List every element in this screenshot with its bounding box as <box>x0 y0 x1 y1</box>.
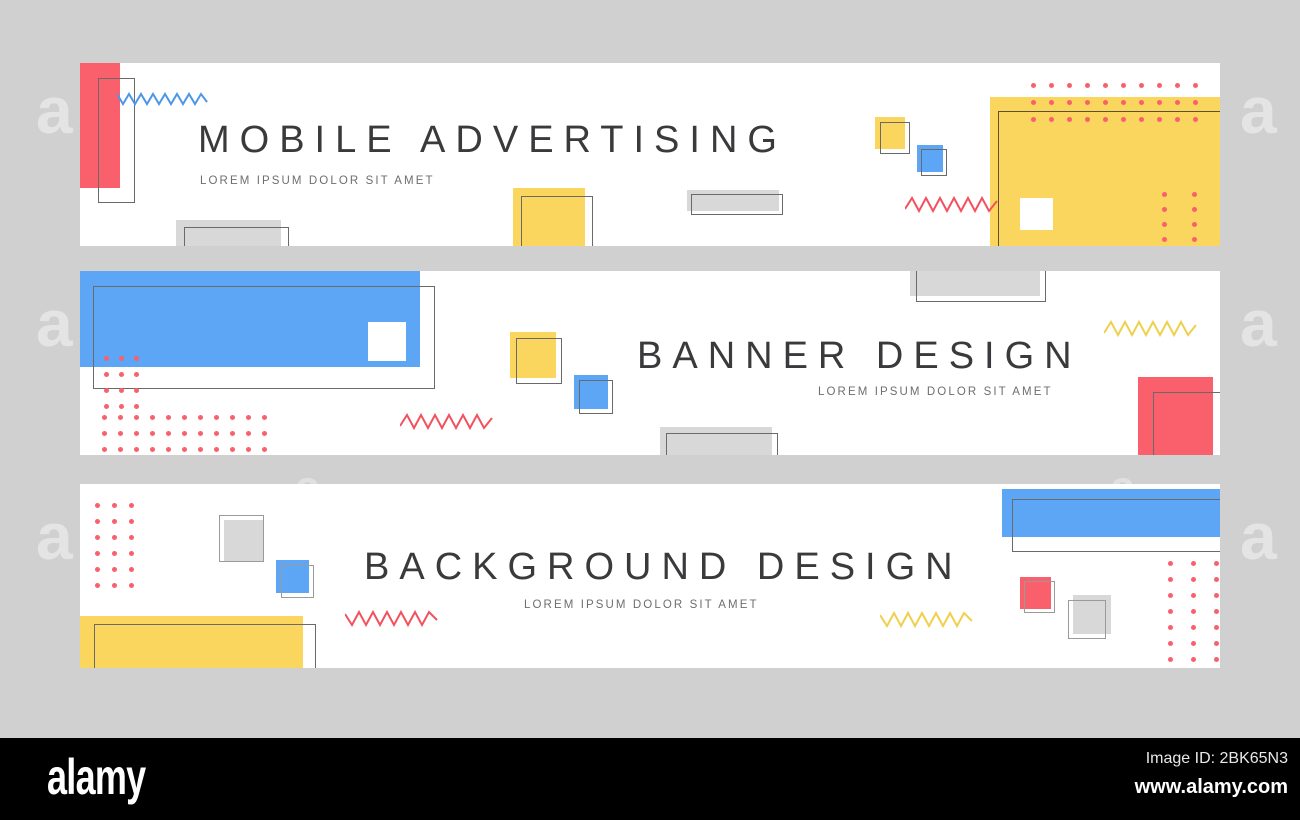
blue-square-left-outline <box>281 565 314 598</box>
outline-on-red-right <box>1153 392 1220 455</box>
outline-on-yellow-bottom-left <box>94 624 316 668</box>
dot-grid-bottom-left-wide <box>102 415 278 455</box>
yellow-box-center-outline <box>521 196 593 246</box>
gray-square-left-outline <box>219 515 264 562</box>
yellow-square-small-outline <box>880 122 910 154</box>
zigzag-red-bottom-right <box>905 195 1000 215</box>
banner-2-title: BANNER DESIGN <box>637 335 1082 378</box>
banner-3-subtitle: LOREM IPSUM DOLOR SIT AMET <box>524 599 759 611</box>
banner-background-design[interactable]: BACKGROUND DESIGN LOREM IPSUM DOLOR SIT … <box>80 484 1220 668</box>
dot-grid-top-wide <box>1031 83 1211 134</box>
yellow-square-center-outline <box>516 338 562 384</box>
alamy-logo: alamy <box>47 752 145 802</box>
gray-square-small-outline <box>1068 600 1106 639</box>
ghost-watermark-left-2: a <box>36 285 73 361</box>
ghost-watermark-right-2: a <box>1240 285 1277 361</box>
banner-3-title: BACKGROUND DESIGN <box>364 546 963 589</box>
banner-banner-design[interactable]: BANNER DESIGN LOREM IPSUM DOLOR SIT AMET <box>80 271 1220 455</box>
blue-square-center-outline <box>579 380 613 414</box>
dot-grid-over-blue <box>104 356 149 420</box>
dot-grid-right-block <box>1162 192 1220 246</box>
banner-1-subtitle: LOREM IPSUM DOLOR SIT AMET <box>200 175 435 187</box>
gray-box-bottom-outline <box>666 433 778 455</box>
zigzag-blue-top-left <box>117 90 210 108</box>
gray-box-bottom-left-outline <box>184 227 289 246</box>
white-square-on-yellow <box>1020 198 1053 230</box>
dot-grid-left <box>95 503 146 599</box>
red-square-small-outline <box>1024 581 1055 613</box>
banner-mobile-advertising[interactable]: MOBILE ADVERTISING LOREM IPSUM DOLOR SIT… <box>80 63 1220 246</box>
alamy-url[interactable]: www.alamy.com <box>1135 776 1288 799</box>
image-id-label: Image ID: 2BK65N3 <box>1146 750 1288 768</box>
banner-1-title: MOBILE ADVERTISING <box>198 119 787 162</box>
outline-on-blue-right <box>1012 499 1220 552</box>
ghost-watermark-left: a <box>36 72 73 148</box>
gray-box-top-outline <box>916 271 1046 302</box>
watermark-bar: alamy Image ID: 2BK65N3 www.alamy.com <box>0 738 1300 820</box>
zigzag-red-center-left <box>400 412 495 432</box>
ghost-watermark-right-3: a <box>1240 498 1277 574</box>
gray-pill-center-right-outline <box>691 194 783 215</box>
ghost-watermark-right: a <box>1240 72 1277 148</box>
white-square-on-blue <box>368 322 406 361</box>
banner-2-subtitle: LOREM IPSUM DOLOR SIT AMET <box>818 386 1053 398</box>
zigzag-red-left <box>345 608 440 628</box>
ghost-watermark-left-3: a <box>36 498 73 574</box>
canvas: a a a a a a a a <box>0 0 1300 820</box>
zigzag-yellow-right <box>1104 319 1199 339</box>
blue-square-small-outline <box>921 149 947 176</box>
zigzag-yellow-center <box>880 609 975 629</box>
dot-grid-right <box>1168 561 1220 668</box>
